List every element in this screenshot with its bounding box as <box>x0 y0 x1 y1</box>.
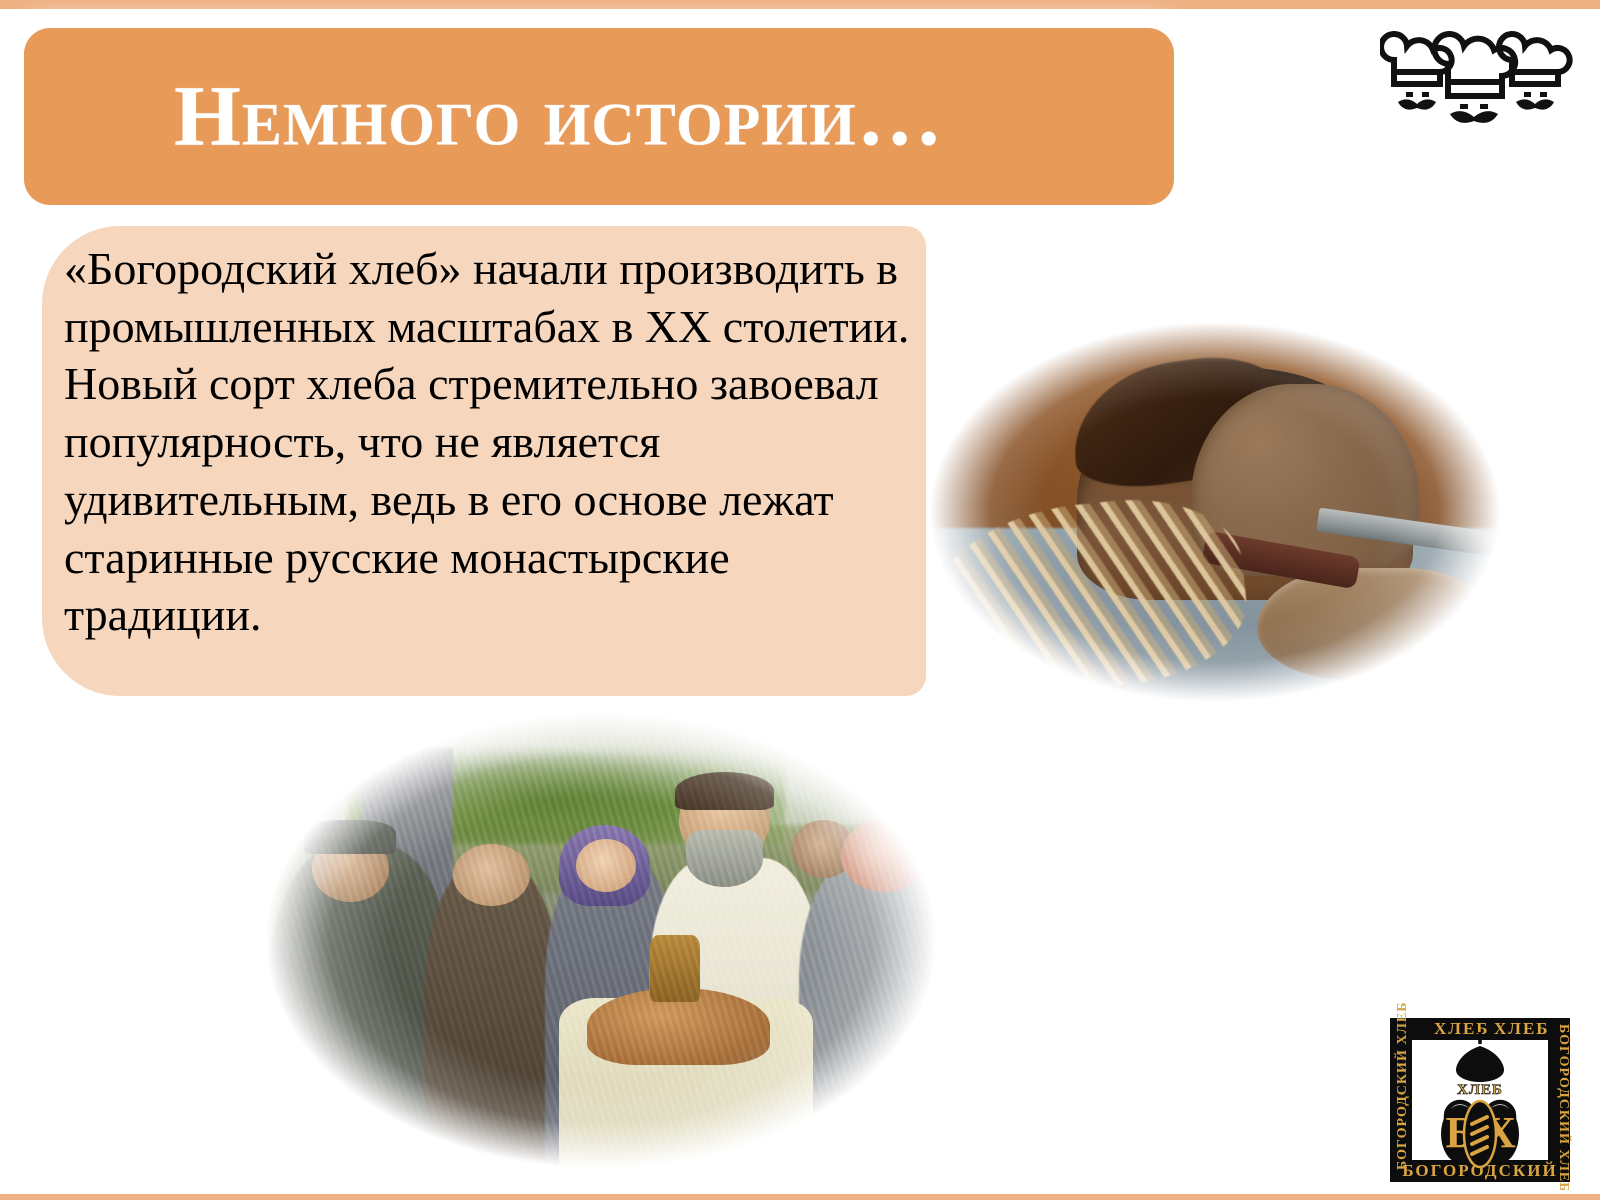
painting-figure-right <box>799 858 954 1180</box>
page-title: Немного истории… <box>174 72 944 158</box>
bread-photo <box>915 312 1515 712</box>
painting-figure-second <box>425 863 559 1180</box>
painting-salt-cellar <box>650 935 699 1002</box>
logo-top-right-label: ХЛЕБ <box>1494 1019 1550 1038</box>
logo-bread-loaf <box>1464 1101 1496 1167</box>
bogorodsky-hleb-logo: ХЛЕБ ХЛЕБ БОГОРОДСКИЙ БОГОРОДСКИЙ ХЛЕБ Б… <box>1382 994 1578 1190</box>
painting-beard-elder <box>686 830 764 888</box>
bread-slice <box>1257 568 1497 680</box>
body-text-card: «Богородский хлеб» начали производить в … <box>42 226 926 696</box>
painting-hair-elder <box>675 772 774 810</box>
logo-dome-label: ХЛЕБ <box>1457 1082 1503 1098</box>
painting-head-right <box>841 820 926 892</box>
bottom-accent-strip <box>0 1194 1600 1200</box>
painting-cap-left <box>304 820 396 854</box>
logo-left-side-label: БОГОРОДСКИЙ ХЛЕБ <box>1393 1002 1410 1170</box>
top-accent-strip <box>0 0 1600 9</box>
header-banner: Немного истории… <box>24 28 1174 205</box>
logo-right-side-label: БОГОРОДСКИЙ ХЛЕБ <box>1556 1024 1573 1190</box>
chef-hats-icon <box>1380 20 1576 124</box>
bread-and-salt-painting <box>248 700 954 1180</box>
painting-oval-mask <box>248 700 954 1180</box>
presentation-slide: Немного истории… <box>0 0 1600 1200</box>
body-paragraph: «Богородский хлеб» начали производить в … <box>64 240 912 644</box>
painting-face-woman <box>576 839 636 892</box>
bread-photo-oval-mask <box>915 312 1515 712</box>
